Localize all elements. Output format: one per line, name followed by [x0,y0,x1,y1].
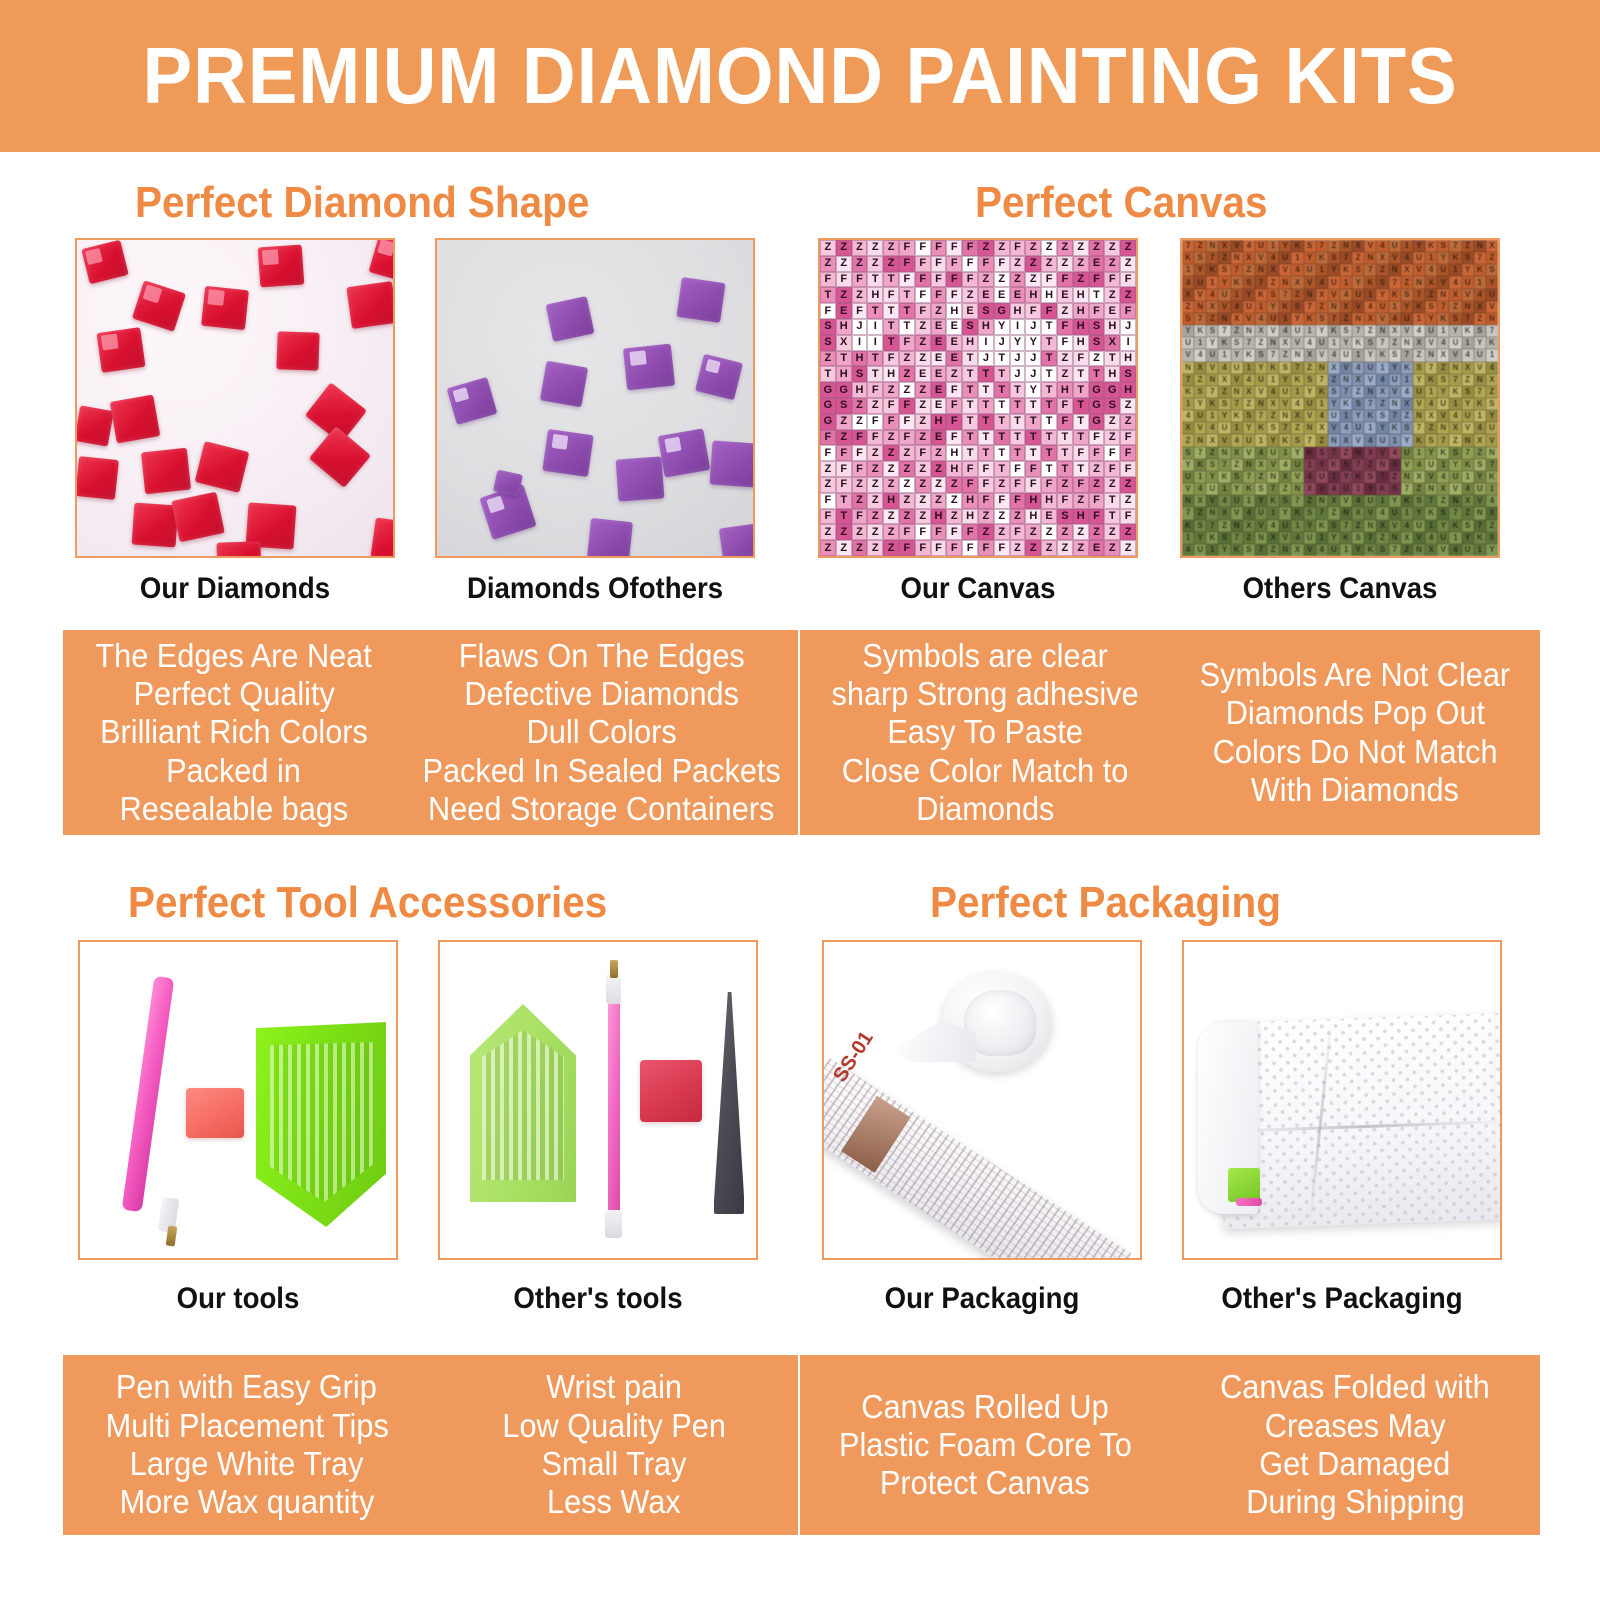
canvas-symbol-cell: 7 [1389,410,1401,422]
canvas-symbol-cell: I [852,335,868,351]
canvas-symbol-cell: Z [1057,366,1073,382]
canvas-symbol-cell: N [1328,434,1340,446]
canvas-symbol-cell: V [1267,459,1279,471]
canvas-symbol-cell: E [1041,509,1057,525]
canvas-symbol-cell: 7 [1352,325,1364,337]
canvas-symbol-cell: X [1413,471,1425,483]
panel-line: Brilliant Rich Colors [100,713,368,751]
canvas-symbol-cell: Z [1486,252,1498,264]
canvas-symbol-cell: J [994,335,1010,351]
canvas-symbol-cell: Z [1104,256,1120,272]
canvas-symbol-cell: Z [1279,349,1291,361]
canvas-symbol-cell: G [820,382,836,398]
canvas-symbol-cell: F [852,461,868,477]
canvas-symbol-cell: N [1462,434,1474,446]
canvas-symbol-cell: K [1449,252,1461,264]
infographic-page: PREMIUM DIAMOND PAINTING KITS Perfect Di… [0,0,1600,1600]
canvas-symbol-cell: 7 [1206,386,1218,398]
diamond-chip [258,245,305,288]
canvas-symbol-cell: 4 [1194,483,1206,495]
canvas-symbol-cell: K [1340,264,1352,276]
canvas-symbol-cell: 4 [1255,447,1267,459]
canvas-symbol-cell: G [820,398,836,414]
canvas-symbol-cell: F [1089,430,1105,446]
canvas-symbol-cell: Y [1328,398,1340,410]
canvas-symbol-cell: Y [1376,422,1388,434]
canvas-symbol-cell: 1 [1376,362,1388,374]
canvas-symbol-cell: Z [852,524,868,540]
canvas-symbol-cell: U [1462,544,1474,556]
canvas-symbol-cell: 7 [1316,507,1328,519]
canvas-symbol-cell: 7 [1291,362,1303,374]
canvas-symbol-cell: F [820,303,836,319]
canvas-symbol-cell: K [1206,532,1218,544]
canvas-symbol-cell: Y [1316,459,1328,471]
canvas-symbol-cell: U [1352,422,1364,434]
canvas-symbol-cell: G [1104,382,1120,398]
canvas-symbol-cell: N [1304,289,1316,301]
wax-square [640,1060,702,1122]
canvas-symbol-cell: S [1194,386,1206,398]
canvas-symbol-cell: U [1474,349,1486,361]
canvas-symbol-cell: T [994,382,1010,398]
canvas-symbol-cell: 7 [1194,313,1206,325]
canvas-symbol-cell: U [1352,289,1364,301]
canvas-symbol-cell: Z [1218,520,1230,532]
canvas-symbol-cell: V [1206,362,1218,374]
canvas-symbol-cell: K [1182,252,1194,264]
canvas-symbol-cell: Y [1462,398,1474,410]
canvas-symbol-cell: S [962,319,978,335]
canvas-symbol-cell: K [1194,325,1206,337]
canvas-symbol-cell: K [1437,447,1449,459]
symbol-grid-muddy: 7ZNXV4U1YKS7ZNXV4U1YKS7ZNXKS7ZNXV4U1YKS7… [1182,240,1498,556]
canvas-symbol-cell: Y [1279,240,1291,252]
canvas-symbol-cell: T [962,430,978,446]
canvas-symbol-cell: V [1437,410,1449,422]
canvas-symbol-cell: T [1057,445,1073,461]
canvas-symbol-cell: 1 [1328,337,1340,349]
canvas-symbol-cell: V [1328,289,1340,301]
canvas-symbol-cell: S [1449,447,1461,459]
canvas-symbol-cell: 7 [1243,471,1255,483]
canvas-symbol-cell: S [1104,398,1120,414]
visible-contents [1214,1164,1272,1216]
canvas-symbol-cell: U [1206,483,1218,495]
canvas-symbol-cell: 4 [1279,325,1291,337]
canvas-symbol-cell: Z [915,477,931,493]
canvas-symbol-cell: X [1328,495,1340,507]
canvas-symbol-cell: F [962,477,978,493]
canvas-symbol-cell: S [820,335,836,351]
canvas-symbol-cell: T [978,382,994,398]
canvas-symbol-cell: K [1352,337,1364,349]
canvas-symbol-cell: S [1352,264,1364,276]
canvas-symbol-cell: 1 [1267,240,1279,252]
canvas-symbol-cell: Y [1304,252,1316,264]
canvas-symbol-cell: T [962,351,978,367]
canvas-symbol-cell: T [883,335,899,351]
canvas-symbol-cell: Z [1104,524,1120,540]
canvas-symbol-cell: X [1389,459,1401,471]
canvas-symbol-cell: T [1073,461,1089,477]
canvas-symbol-cell: X [1316,422,1328,434]
canvas-symbol-cell: 1 [1401,240,1413,252]
canvas-symbol-cell: X [1267,398,1279,410]
canvas-symbol-cell: 7 [1243,337,1255,349]
canvas-symbol-cell: Z [1010,272,1026,288]
canvas-symbol-cell: Y [1340,471,1352,483]
canvas-symbol-cell: T [994,445,1010,461]
canvas-symbol-cell: S [1437,374,1449,386]
canvas-symbol-cell: Z [915,335,931,351]
canvas-symbol-cell: V [1449,483,1461,495]
canvas-symbol-cell: N [1340,240,1352,252]
canvas-symbol-cell: S [1218,398,1230,410]
canvas-symbol-cell: Z [1401,276,1413,288]
canvas-symbol-cell: K [1389,289,1401,301]
panel-line: Pen with Easy Grip [116,1368,377,1406]
canvas-symbol-cell: S [1304,374,1316,386]
canvas-symbol-cell: 1 [1316,398,1328,410]
panel-column-ours: Canvas Rolled Up Plastic Foam Core To Pr… [800,1355,1170,1535]
canvas-symbol-cell: Z [1401,544,1413,556]
canvas-symbol-cell: H [1073,335,1089,351]
canvas-symbol-cell: Y [1194,532,1206,544]
diamond-chip [623,344,675,391]
diamond-chip [75,456,119,500]
canvas-symbol-cell: V [1462,422,1474,434]
canvas-symbol-cell: K [1316,252,1328,264]
canvas-symbol-cell: Y [1449,325,1461,337]
panel-column-theirs: Canvas Folded with Creases May Get Damag… [1170,1355,1540,1535]
canvas-symbol-cell: T [1089,287,1105,303]
canvas-symbol-cell: 7 [1231,264,1243,276]
canvas-symbol-cell: K [1352,471,1364,483]
caption-others-diamonds: Diamonds Ofothers [448,572,742,606]
canvas-symbol-cell: T [962,398,978,414]
canvas-symbol-cell: T [994,461,1010,477]
canvas-symbol-cell: S [1449,313,1461,325]
panel-line: Less Wax [547,1483,681,1521]
photo-others-canvas: 7ZNXV4U1YKS7ZNXV4U1YKS7ZNXKS7ZNXV4U1YKS7… [1180,238,1500,558]
canvas-symbol-cell: F [1057,493,1073,509]
canvas-symbol-cell: F [820,272,836,288]
canvas-symbol-cell: V [1364,240,1376,252]
canvas-symbol-cell: X [1401,532,1413,544]
canvas-symbol-cell: U [1449,471,1461,483]
canvas-symbol-cell: Z [1104,287,1120,303]
canvas-symbol-cell: Y [1328,532,1340,544]
canvas-symbol-cell: 1 [1449,532,1461,544]
canvas-symbol-cell: Z [978,272,994,288]
canvas-symbol-cell: V [1231,240,1243,252]
diamond-chip [346,281,395,329]
panel-line: Low Quality Pen [503,1407,726,1445]
canvas-symbol-cell: 7 [1474,386,1486,398]
canvas-symbol-cell: E [1089,540,1105,556]
canvas-symbol-cell: Z [1352,520,1364,532]
canvas-symbol-cell: N [1413,544,1425,556]
canvas-symbol-cell: K [1340,532,1352,544]
canvas-symbol-cell: T [1010,382,1026,398]
canvas-symbol-cell: U [1328,410,1340,422]
canvas-symbol-cell: K [1291,507,1303,519]
canvas-symbol-cell: K [1328,325,1340,337]
canvas-symbol-cell: U [1340,483,1352,495]
canvas-symbol-cell: V [1328,422,1340,434]
canvas-symbol-cell: Y [1218,544,1230,556]
canvas-symbol-cell: Z [899,382,915,398]
canvas-symbol-cell: S [1462,520,1474,532]
canvas-symbol-cell: V [1182,483,1194,495]
canvas-symbol-cell: V [1413,532,1425,544]
canvas-symbol-cell: J [852,319,868,335]
diamond-chip [540,361,588,408]
canvas-symbol-cell: Z [1041,256,1057,272]
canvas-symbol-cell: S [820,319,836,335]
canvas-symbol-cell: Z [820,461,836,477]
canvas-symbol-cell: Y [1437,520,1449,532]
canvas-symbol-cell: Z [1104,430,1120,446]
canvas-symbol-cell: Z [931,445,947,461]
canvas-symbol-cell: T [1041,335,1057,351]
canvas-symbol-cell: Y [1255,362,1267,374]
photo-our-packaging: SS-01 [822,940,1142,1260]
diamond-chip [201,286,249,330]
canvas-symbol-cell: 7 [1316,374,1328,386]
canvas-symbol-cell: F [1025,477,1041,493]
canvas-symbol-cell: N [1352,447,1364,459]
canvas-symbol-cell: K [1474,398,1486,410]
canvas-symbol-cell: I [978,335,994,351]
canvas-symbol-cell: F [899,430,915,446]
canvas-symbol-cell: K [1194,459,1206,471]
canvas-symbol-cell: S [1255,483,1267,495]
canvas-symbol-cell: V [1279,532,1291,544]
canvas-symbol-cell: U [1437,264,1449,276]
canvas-symbol-cell: 7 [1425,495,1437,507]
symbol-grid-clear: ZZZZZFFFFFZZFZZZZZZZZZZZZFFFFFFFZZZZZEZZ… [820,240,1136,556]
canvas-symbol-cell: N [1194,301,1206,313]
canvas-symbol-cell: E [931,430,947,446]
canvas-symbol-cell: X [1376,252,1388,264]
canvas-symbol-cell: G [1089,382,1105,398]
canvas-symbol-cell: F [1010,493,1026,509]
canvas-symbol-cell: S [1328,520,1340,532]
canvas-symbol-cell: X [1304,483,1316,495]
canvas-symbol-cell: Y [1291,447,1303,459]
canvas-symbol-cell: S [1057,509,1073,525]
canvas-symbol-cell: Y [1231,483,1243,495]
canvas-symbol-cell: 4 [1243,507,1255,519]
canvas-symbol-cell: 4 [1462,349,1474,361]
canvas-symbol-cell: Z [1206,313,1218,325]
canvas-symbol-cell: S [1401,289,1413,301]
canvas-symbol-cell: F [1120,461,1136,477]
canvas-symbol-cell: 7 [1206,520,1218,532]
canvas-symbol-cell: Z [1073,540,1089,556]
canvas-symbol-cell: 4 [1182,410,1194,422]
canvas-symbol-cell: V [1267,325,1279,337]
canvas-symbol-cell: V [1316,483,1328,495]
canvas-symbol-cell: K [1182,520,1194,532]
canvas-symbol-cell: F [978,493,994,509]
canvas-symbol-cell: S [1194,520,1206,532]
canvas-symbol-cell: S [1279,495,1291,507]
canvas-symbol-cell: N [1267,337,1279,349]
canvas-symbol-cell: N [1231,520,1243,532]
canvas-symbol-cell: T [978,398,994,414]
pen-ferrule [606,974,621,1004]
canvas-symbol-cell: 7 [1279,422,1291,434]
panel-line: Small Tray [542,1445,687,1483]
canvas-symbol-cell: K [1364,276,1376,288]
panel-line: Resealable bags [120,790,349,828]
canvas-symbol-cell: 7 [1328,447,1340,459]
canvas-symbol-cell: F [899,256,915,272]
canvas-symbol-cell: Z [1486,520,1498,532]
diamond-chip [616,456,665,501]
diamond-chip [276,331,319,370]
canvas-symbol-cell: N [1449,495,1461,507]
canvas-symbol-cell: F [1104,445,1120,461]
canvas-symbol-cell: S [1462,252,1474,264]
canvas-symbol-cell: Z [994,477,1010,493]
canvas-symbol-cell: 4 [1425,264,1437,276]
canvas-symbol-cell: K [1486,471,1498,483]
panel-line: Creases May [1265,1407,1446,1445]
panel-diamond-shape: The Edges Are Neat Perfect Quality Brill… [63,630,798,835]
canvas-symbol-cell: X [1267,264,1279,276]
canvas-symbol-cell: Z [1376,264,1388,276]
canvas-symbol-cell: 7 [1364,532,1376,544]
canvas-symbol-cell: Y [1449,459,1461,471]
caption-others-tools: Other's tools [451,1282,745,1316]
canvas-symbol-cell: 1 [1279,447,1291,459]
canvas-symbol-cell: Z [1328,240,1340,252]
canvas-symbol-cell: Z [1073,524,1089,540]
canvas-symbol-cell: 1 [1255,434,1267,446]
canvas-symbol-cell: Z [1010,540,1026,556]
canvas-symbol-cell: N [1194,434,1206,446]
canvas-symbol-cell: U [1328,276,1340,288]
canvas-symbol-cell: Z [946,509,962,525]
canvas-symbol-cell: E [915,366,931,382]
canvas-symbol-cell: N [1401,471,1413,483]
canvas-symbol-cell: F [820,445,836,461]
canvas-symbol-cell: Y [1401,301,1413,313]
canvas-symbol-cell: 1 [1462,337,1474,349]
canvas-symbol-cell: H [1057,382,1073,398]
canvas-symbol-cell: X [1206,301,1218,313]
canvas-symbol-cell: S [1182,447,1194,459]
canvas-symbol-cell: 4 [1218,362,1230,374]
canvas-symbol-cell: U [1401,447,1413,459]
canvas-symbol-cell: Z [1025,240,1041,256]
canvas-symbol-cell: Y [1304,386,1316,398]
canvas-symbol-cell: S [1352,398,1364,410]
canvas-symbol-cell: F [852,303,868,319]
canvas-symbol-cell: 1 [1364,289,1376,301]
header-banner: PREMIUM DIAMOND PAINTING KITS [0,0,1600,152]
canvas-symbol-cell: U [1218,289,1230,301]
canvas-symbol-cell: Z [1089,524,1105,540]
canvas-symbol-cell: F [1010,240,1026,256]
canvas-symbol-cell: S [1194,252,1206,264]
canvas-symbol-cell: E [931,398,947,414]
canvas-symbol-cell: F [1025,461,1041,477]
canvas-symbol-cell: K [1486,337,1498,349]
canvas-symbol-cell: Z [852,414,868,430]
canvas-symbol-cell: 4 [1255,313,1267,325]
canvas-symbol-cell: 4 [1206,289,1218,301]
canvas-symbol-cell: F [931,256,947,272]
canvas-symbol-cell: X [1486,374,1498,386]
canvas-symbol-cell: X [1340,301,1352,313]
canvas-symbol-cell: X [1486,507,1498,519]
canvas-symbol-cell: Y [1437,386,1449,398]
canvas-symbol-cell: 4 [1316,544,1328,556]
canvas-symbol-cell: 7 [1376,471,1388,483]
canvas-symbol-cell: H [1025,287,1041,303]
canvas-symbol-cell: 4 [1243,374,1255,386]
canvas-symbol-cell: S [1089,335,1105,351]
canvas-symbol-cell: Z [946,493,962,509]
canvas-symbol-cell: Z [1316,434,1328,446]
canvas-symbol-cell: E [946,335,962,351]
canvas-symbol-cell: 4 [1389,447,1401,459]
panel-line: More Wax quantity [119,1483,374,1521]
panel-line: Close Color Match to [842,752,1129,790]
canvas-symbol-cell: Z [1025,540,1041,556]
canvas-symbol-cell: F [946,272,962,288]
canvas-symbol-cell: U [1401,313,1413,325]
canvas-symbol-cell: 1 [1279,313,1291,325]
canvas-symbol-cell: V [1376,313,1388,325]
canvas-symbol-cell: Z [1010,509,1026,525]
canvas-symbol-cell: U [1243,434,1255,446]
page-title: PREMIUM DIAMOND PAINTING KITS [142,30,1457,122]
canvas-symbol-cell: Z [1376,398,1388,410]
canvas-symbol-cell: T [867,366,883,382]
canvas-symbol-cell: T [994,351,1010,367]
canvas-symbol-cell: F [1057,335,1073,351]
canvas-symbol-cell: Z [1057,477,1073,493]
canvas-symbol-cell: T [1010,398,1026,414]
panel-column-ours: The Edges Are Neat Perfect Quality Brill… [63,630,405,835]
canvas-symbol-cell: K [1218,471,1230,483]
canvas-symbol-cell: U [1206,349,1218,361]
panel-line: Packed In Sealed Packets [422,752,780,790]
canvas-symbol-cell: Z [867,493,883,509]
canvas-symbol-cell: J [1010,351,1026,367]
canvas-symbol-cell: Z [836,540,852,556]
canvas-symbol-cell: Z [883,256,899,272]
canvas-symbol-cell: Z [915,461,931,477]
canvas-symbol-cell: 4 [1364,301,1376,313]
canvas-symbol-cell: 7 [1206,252,1218,264]
canvas-symbol-cell: Y [1231,349,1243,361]
canvas-symbol-cell: S [1316,447,1328,459]
canvas-symbol-cell: 7 [1449,507,1461,519]
canvas-symbol-cell: V [1425,471,1437,483]
panel-line: sharp Strong adhesive [831,675,1138,713]
canvas-symbol-cell: Z [883,445,899,461]
canvas-symbol-cell: Z [1182,301,1194,313]
canvas-symbol-cell: X [1182,289,1194,301]
canvas-symbol-cell: 1 [1304,459,1316,471]
